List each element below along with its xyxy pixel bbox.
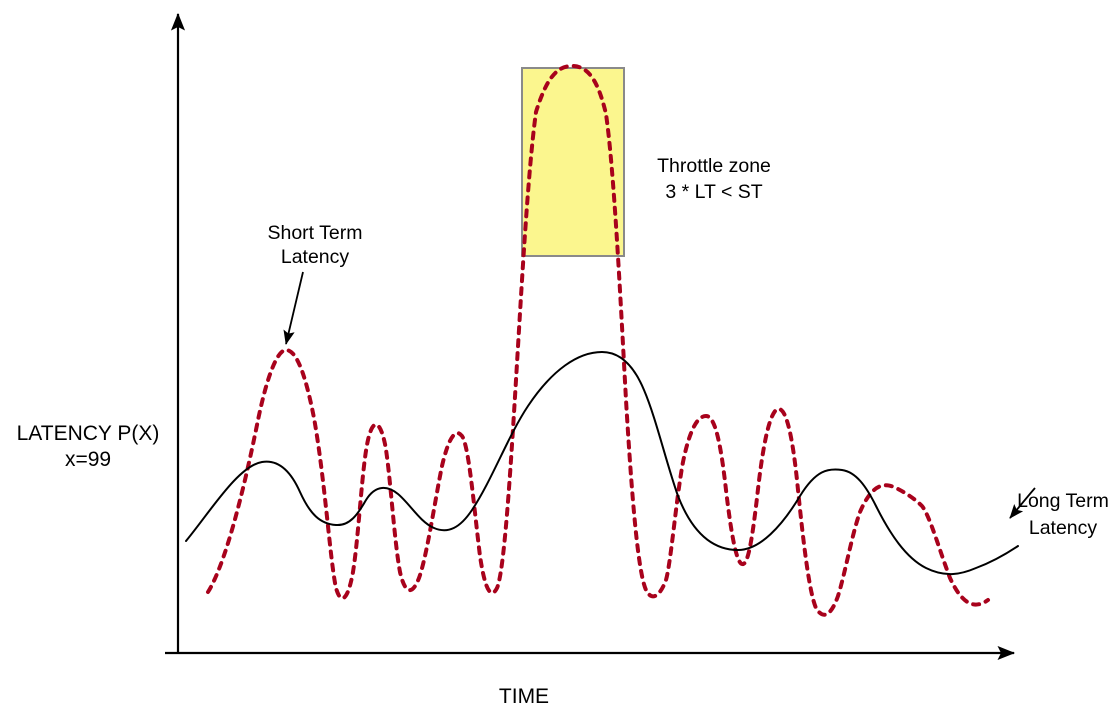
- latency-throttle-diagram: Short Term Latency Throttle zone 3 * LT …: [0, 0, 1120, 718]
- y-axis-label-line2: x=99: [65, 448, 111, 471]
- long-term-latency-curve: [186, 352, 1018, 574]
- long-term-latency-label-line2: Latency: [1029, 517, 1098, 539]
- throttle-zone-label-line1: Throttle zone: [657, 155, 771, 177]
- diagram-canvas: Short Term Latency Throttle zone 3 * LT …: [0, 0, 1120, 718]
- x-axis-label: TIME: [499, 685, 549, 708]
- short-term-latency-arrow: [286, 272, 303, 344]
- throttle-zone-rect: [522, 68, 624, 256]
- short-term-latency-label-line1: Short Term: [267, 222, 362, 244]
- short-term-latency-label-line2: Latency: [281, 246, 350, 268]
- y-axis-label-line1: LATENCY P(X): [17, 422, 160, 445]
- throttle-zone-label-line2: 3 * LT < ST: [665, 181, 762, 203]
